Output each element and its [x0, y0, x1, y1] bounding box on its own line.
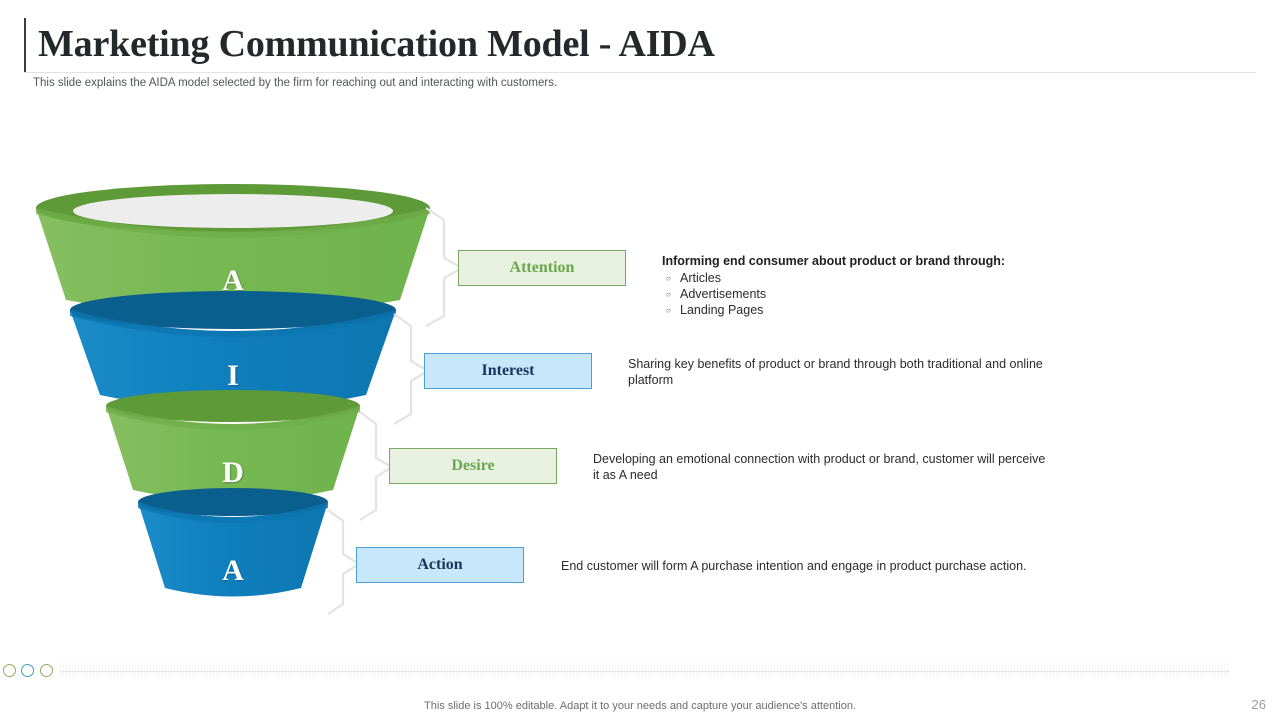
footer-dot-1-icon — [3, 664, 16, 677]
page-number: 26 — [1252, 697, 1266, 712]
slide-header: Marketing Communication Model - AIDA Thi… — [0, 0, 1280, 100]
svg-text:D: D — [222, 456, 244, 489]
list-item: Articles — [662, 270, 1092, 286]
list-item: Advertisements — [662, 286, 1092, 302]
footer-note: This slide is 100% editable. Adapt it to… — [0, 700, 1280, 712]
svg-text:I: I — [227, 359, 239, 392]
stage-label-action[interactable]: Action — [356, 547, 524, 583]
page-subtitle: This slide explains the AIDA model selec… — [33, 76, 557, 91]
page-title: Marketing Communication Model - AIDA — [38, 20, 715, 68]
description-attention-heading: Informing end consumer about product or … — [662, 253, 1092, 269]
svg-text:A: A — [222, 554, 244, 587]
description-attention: Informing end consumer about product or … — [662, 253, 1092, 318]
aida-funnel-diagram: A I D A — [28, 180, 458, 610]
description-desire-text: Developing an emotional connection with … — [593, 451, 1053, 483]
title-divider — [24, 72, 1256, 73]
description-action-text: End customer will form A purchase intent… — [561, 558, 1121, 574]
description-attention-list: Articles Advertisements Landing Pages — [662, 270, 1092, 318]
footer-divider — [60, 671, 1230, 672]
stage-label-desire[interactable]: Desire — [389, 448, 557, 484]
description-interest-text: Sharing key benefits of product or brand… — [628, 356, 1066, 388]
title-accent-bar — [24, 18, 26, 73]
funnel-segment-action: A — [138, 488, 328, 597]
description-action: End customer will form A purchase intent… — [561, 558, 1121, 574]
funnel-segment-desire: D — [106, 390, 360, 501]
list-item: Landing Pages — [662, 302, 1092, 318]
footer-dot-2-icon — [21, 664, 34, 677]
footer-dot-3-icon — [40, 664, 53, 677]
description-desire: Developing an emotional connection with … — [593, 451, 1053, 483]
stage-label-attention[interactable]: Attention — [458, 250, 626, 286]
stage-label-interest[interactable]: Interest — [424, 353, 592, 389]
description-interest: Sharing key benefits of product or brand… — [628, 356, 1066, 388]
